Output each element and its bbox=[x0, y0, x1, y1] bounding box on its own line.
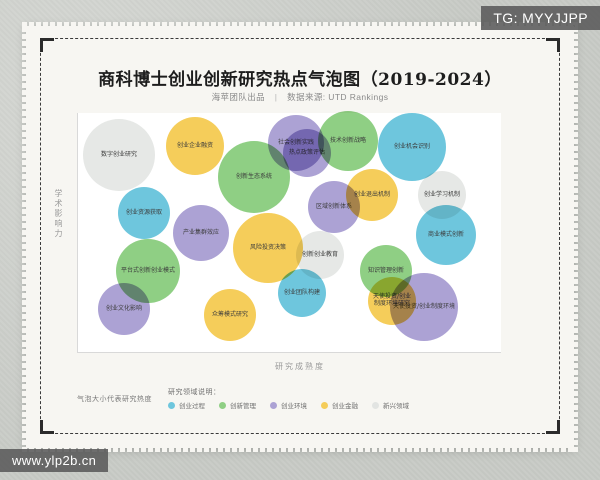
legend-main: 研究领域说明： 创业过程创新管理创业环境创业金融新兴领域 bbox=[168, 387, 541, 410]
y-axis-label: 学术影响力 bbox=[53, 189, 64, 239]
screenshot-root: 商科博士创业创新研究热点气泡图（2019-2024） 海苹团队出品 | 数据来源… bbox=[0, 0, 600, 480]
bubble-0[interactable]: 数字创业研究 bbox=[83, 119, 155, 191]
chart-title: 商科博士创业创新研究热点气泡图（2019-2024） bbox=[41, 65, 559, 90]
bubble-19[interactable]: 众筹模式研究 bbox=[204, 289, 256, 341]
legend-item-label: 创业过程 bbox=[179, 400, 205, 410]
bubble-label: 创业学习机制 bbox=[424, 192, 460, 199]
bubble-1[interactable]: 创业企业融资 bbox=[166, 117, 224, 175]
bubble-9[interactable]: 商业模式创新 bbox=[416, 205, 476, 265]
bubble-12[interactable]: 产业集群效应 bbox=[173, 205, 229, 261]
legend-title: 研究领域说明： bbox=[168, 387, 541, 397]
legend-swatch-icon bbox=[270, 402, 277, 409]
corner-mark-top-right bbox=[546, 38, 560, 52]
subtitle-author: 海苹团队出品 bbox=[212, 92, 265, 102]
legend-item-label: 创业金融 bbox=[332, 400, 358, 410]
bubble-label: 区域创新体系 bbox=[316, 204, 352, 211]
bubble-label: 平台式创新创业模式 bbox=[121, 268, 175, 275]
x-axis-label: 研究成熟度 bbox=[41, 361, 559, 372]
bubble-label: 创业退出机制 bbox=[354, 192, 390, 199]
bubble-label: 商业模式创新 bbox=[428, 232, 464, 239]
legend-item-4[interactable]: 新兴领域 bbox=[372, 400, 409, 410]
bubble-size-note: 气泡大小代表研究热度 bbox=[77, 394, 152, 404]
bubble-label: 创业团队构建 bbox=[284, 290, 320, 297]
legend-swatch-icon bbox=[168, 402, 175, 409]
legend-swatch-icon bbox=[219, 402, 226, 409]
legend-item-1[interactable]: 创新管理 bbox=[219, 400, 256, 410]
telegram-watermark: TG: MYYJJPP bbox=[481, 6, 600, 30]
bubble-label: 数字创业研究 bbox=[101, 152, 137, 159]
bubble-label: 创业机会识别 bbox=[394, 144, 430, 151]
bubble-label: 创新生态系统 bbox=[236, 174, 272, 181]
bubble-21[interactable]: 天使投资/创业制度环境 bbox=[390, 273, 458, 341]
corner-mark-top-left bbox=[40, 38, 54, 52]
bubble-label: 产业集群效应 bbox=[183, 230, 219, 237]
paper-sheet: 商科博士创业创新研究热点气泡图（2019-2024） 海苹团队出品 | 数据来源… bbox=[26, 26, 574, 448]
bubble-17[interactable]: 创业团队构建 bbox=[278, 269, 326, 317]
legend: 气泡大小代表研究热度 研究领域说明： 创业过程创新管理创业环境创业金融新兴领域 bbox=[77, 387, 541, 410]
corner-mark-bottom-right bbox=[546, 420, 560, 434]
bubble-label: 天使投资/创业制度环境 bbox=[393, 304, 455, 311]
chart-subtitle: 海苹团队出品 | 数据来源: UTD Rankings bbox=[41, 91, 559, 103]
dashed-frame: 商科博士创业创新研究热点气泡图（2019-2024） 海苹团队出品 | 数据来源… bbox=[40, 38, 560, 434]
legend-swatch-icon bbox=[321, 402, 328, 409]
legend-swatch-icon bbox=[372, 402, 379, 409]
subtitle-separator: | bbox=[275, 92, 278, 102]
bubble-label: 众筹模式研究 bbox=[212, 312, 248, 319]
bubble-11[interactable]: 创业资源获取 bbox=[118, 187, 170, 239]
legend-item-3[interactable]: 创业金融 bbox=[321, 400, 358, 410]
subtitle-data-source: 数据来源: UTD Rankings bbox=[287, 92, 388, 102]
corner-mark-bottom-left bbox=[40, 420, 54, 434]
legend-item-label: 创业环境 bbox=[281, 400, 307, 410]
bubble-10[interactable]: 区域创新体系 bbox=[308, 181, 360, 233]
legend-item-0[interactable]: 创业过程 bbox=[168, 400, 205, 410]
bubble-label: 创业企业融资 bbox=[177, 143, 213, 150]
bubble-label: 创业资源获取 bbox=[126, 210, 162, 217]
bubble-18[interactable]: 创业文化影响 bbox=[98, 283, 150, 335]
legend-item-2[interactable]: 创业环境 bbox=[270, 400, 307, 410]
bubble-5[interactable]: 技术创新战略 bbox=[318, 111, 378, 171]
bubble-label: 创新创业教育 bbox=[302, 252, 338, 259]
bubble-plot-area: 数字创业研究创业企业融资创新生态系统社会创新实践热点政策评估技术创新战略创业机会… bbox=[77, 113, 501, 353]
bubble-label: 知识管理创新 bbox=[368, 268, 404, 275]
bubble-label: 技术创新战略 bbox=[330, 138, 366, 145]
legend-item-label: 创新管理 bbox=[230, 400, 256, 410]
legend-items: 创业过程创新管理创业环境创业金融新兴领域 bbox=[168, 400, 541, 410]
bubble-label: 创业文化影响 bbox=[106, 306, 142, 313]
legend-item-label: 新兴领域 bbox=[383, 400, 409, 410]
bubble-label: 风险投资决策 bbox=[250, 245, 286, 252]
site-watermark: www.ylp2b.cn bbox=[0, 449, 108, 472]
